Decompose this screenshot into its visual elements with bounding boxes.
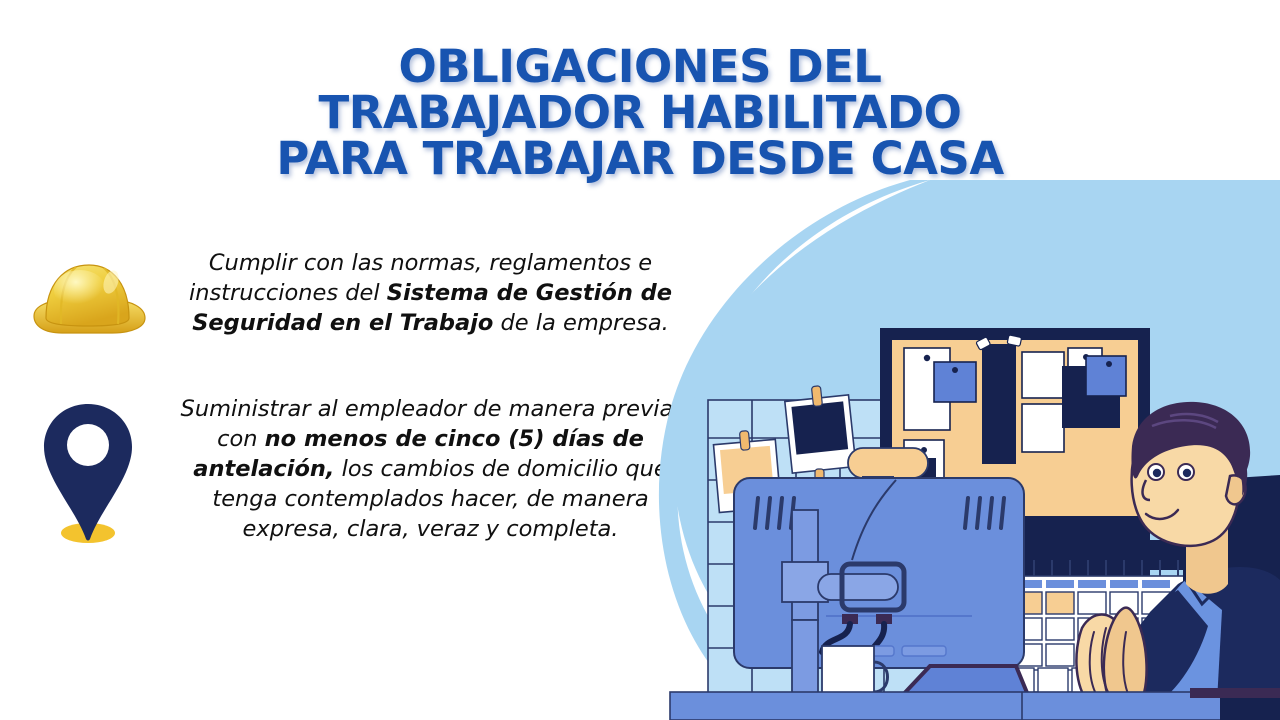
page-title: OBLIGACIONES DEL TRABAJADOR HABILITADO P… [180,44,1100,182]
desk-surface [670,688,1280,720]
list-item: Cumplir con las normas, reglamentos e in… [0,248,700,346]
hard-hat-icon [0,248,175,346]
obligations-list: Cumplir con las normas, reglamentos e in… [0,238,700,550]
slide-root: OBLIGACIONES DEL TRABAJADOR HABILITADO P… [0,0,1280,720]
map-pin-icon [0,394,175,550]
list-item-text: Suministrar al empleador de manera previ… [175,394,700,544]
list-item-text: Cumplir con las normas, reglamentos e in… [175,248,700,338]
man-at-desk-home-office-illustration [630,180,1280,720]
list-item: Suministrar al empleador de manera previ… [0,394,700,550]
